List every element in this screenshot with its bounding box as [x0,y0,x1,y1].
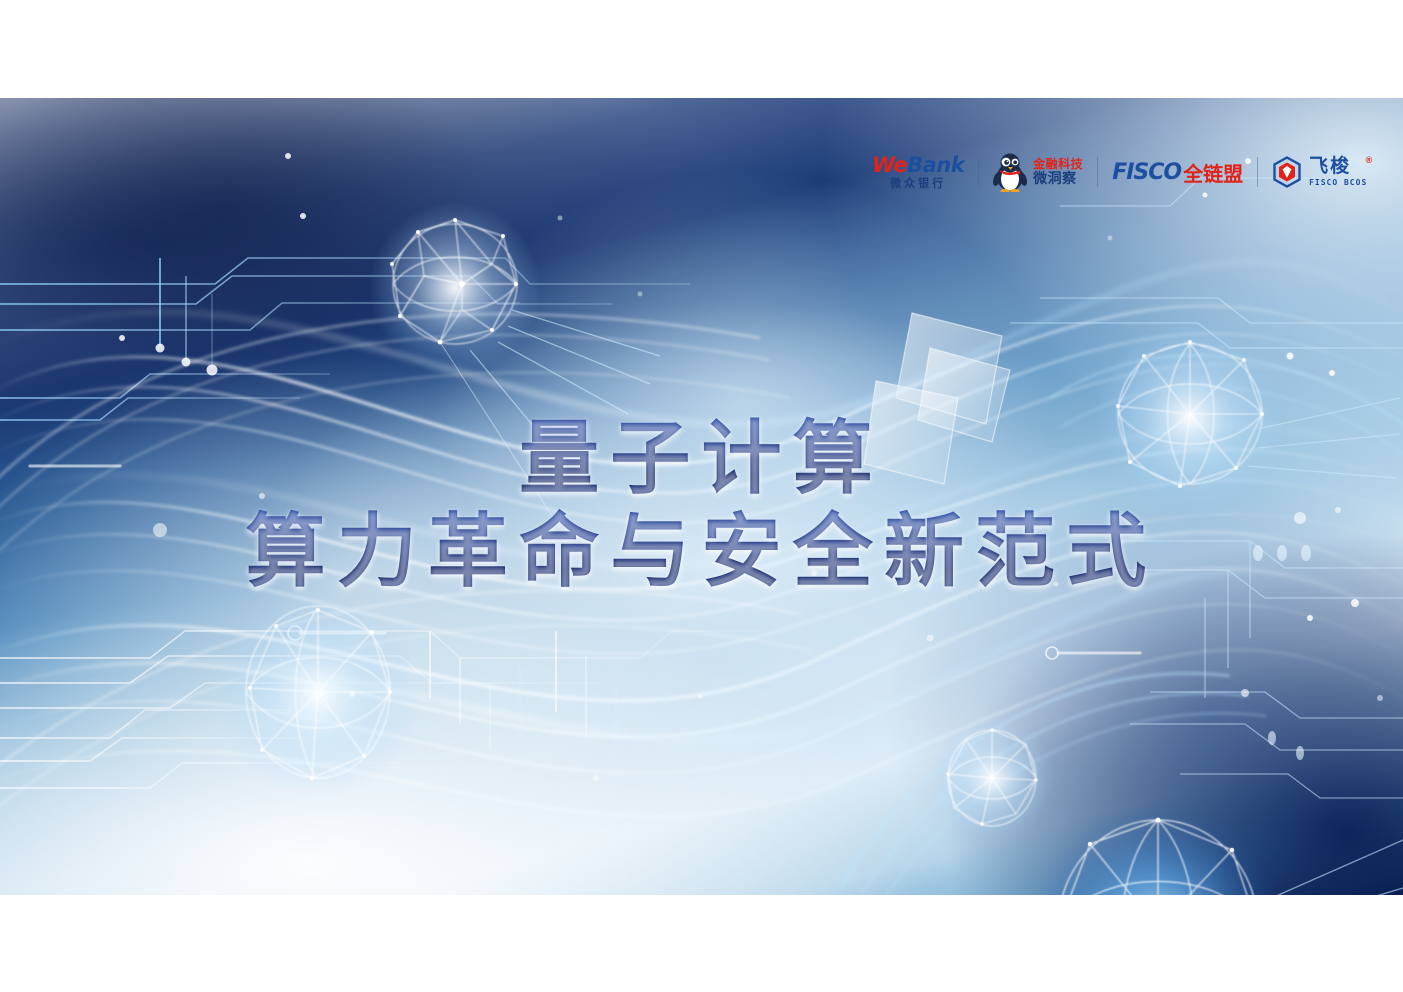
logo-separator-2 [1097,157,1098,187]
hexagon-shuttle-icon [1272,156,1302,188]
bcos-latin-name: FISCO BCOS [1309,179,1367,187]
wireframe-sphere-4 [930,716,1054,840]
slide-title-line-2: 算力革命与安全新范式 [0,509,1403,594]
partner-logo-bar: WeBank 微众银行 [872,146,1367,198]
weidongcha-line-2: 微洞察 [1033,171,1083,186]
logo-fisco-bcos: 飞梭® FISCO BCOS [1272,149,1367,195]
webank-wordmark-we: We [872,153,907,177]
bcos-chinese-text: 飞梭 [1309,156,1351,177]
penguin-mascot-icon [993,152,1027,192]
fisco-alliance-chinese: 全链盟 [1183,158,1243,187]
webank-wordmark-bank: Bank [907,153,964,177]
logo-fisco-alliance: FISCO 全链盟 [1112,149,1243,195]
presentation-slide: 量子计算 算力革命与安全新范式 WeBank 微众银行 [0,98,1403,895]
fisco-wordmark: FISCO [1112,160,1181,185]
webank-chinese-name: 微众银行 [890,178,946,190]
bcos-chinese-name: 飞梭® [1309,157,1367,177]
logo-weidongcha: 金融科技 微洞察 [993,149,1083,195]
bcos-registered-mark: ® [1366,156,1375,165]
wireframe-sphere-5 [1030,805,1403,895]
logo-separator-1 [978,157,979,187]
webank-wordmark: WeBank [872,155,964,176]
wireframe-sphere-3 [216,593,420,797]
logo-webank: WeBank 微众银行 [872,149,964,195]
slide-title-block: 量子计算 算力革命与安全新范式 [0,416,1403,594]
logo-separator-3 [1257,157,1258,187]
slide-title-line-1: 量子计算 [0,416,1403,501]
